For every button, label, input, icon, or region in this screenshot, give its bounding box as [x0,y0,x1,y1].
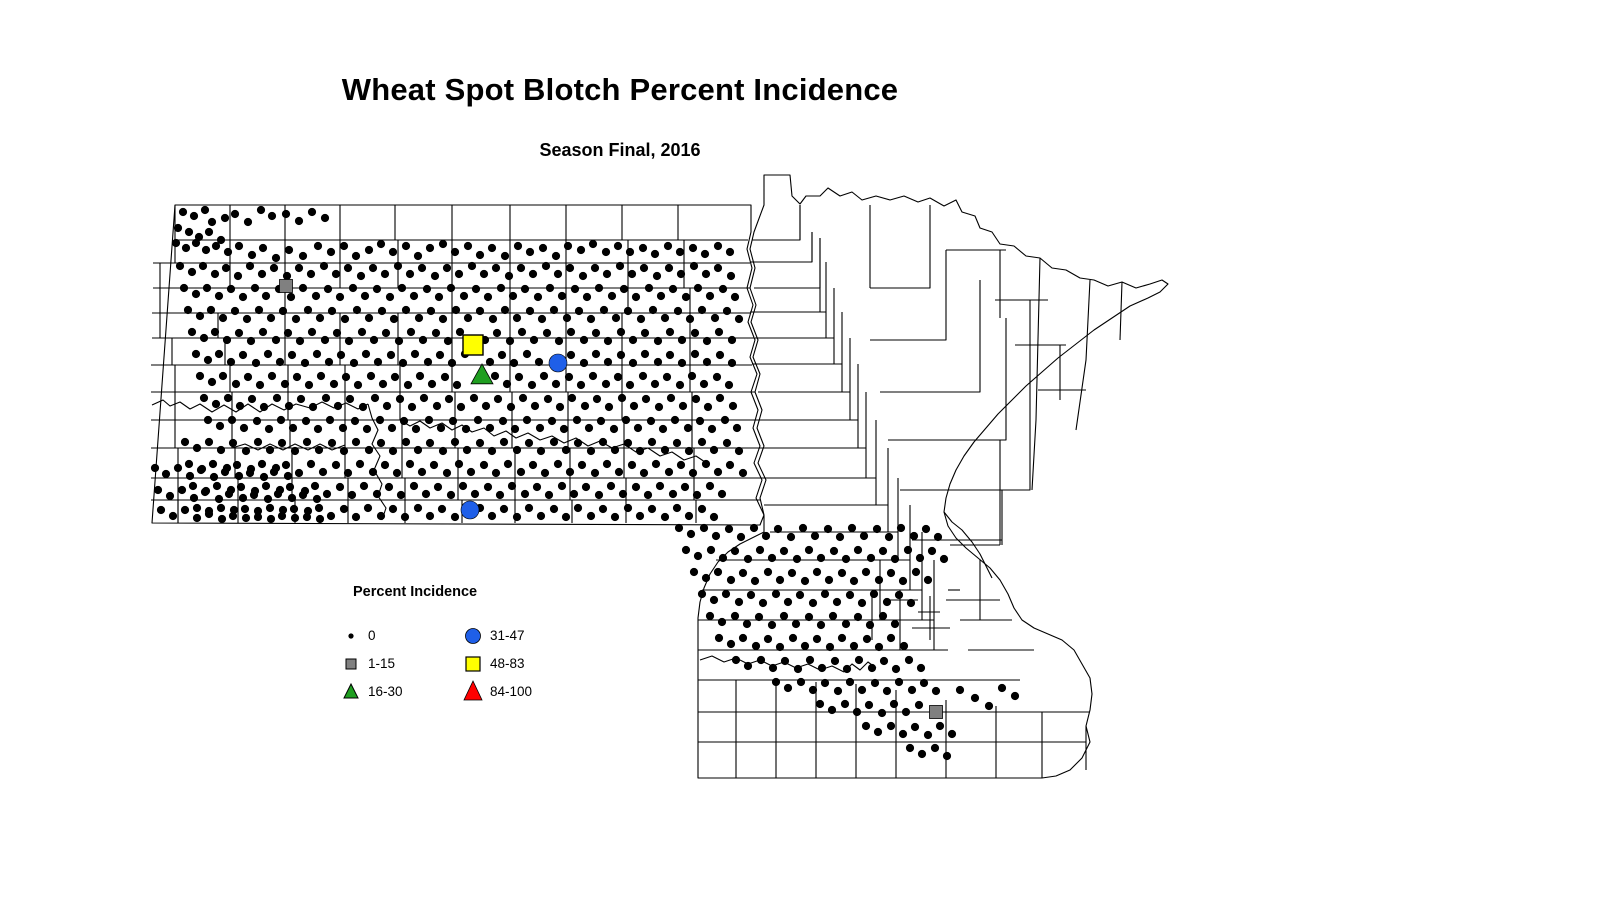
map-point-zero [727,272,735,280]
map-point-zero [365,246,373,254]
map-point-zero [181,506,189,514]
map-point-zero [757,656,765,664]
map-point-zero [719,554,727,562]
map-point-zero [676,248,684,256]
map-point-zero [455,460,463,468]
map-point-zero [887,722,895,730]
map-point-zero [855,656,863,664]
map-point-zero [199,262,207,270]
map-point-zero [437,424,445,432]
map-point-zero [276,486,284,494]
map-point-zero [402,306,410,314]
map-point-zero [723,307,731,315]
map-point-zero [443,264,451,272]
map-point-zero [363,425,371,433]
map-point-zero [703,337,711,345]
map-point-zero [583,293,591,301]
map-point-zero [854,546,862,554]
map-point-zero [911,723,919,731]
map-point-zero [600,306,608,314]
map-point-zero [682,546,690,554]
map-point-zero [154,486,162,494]
map-point-zero [276,358,284,366]
map-point-zero [873,525,881,533]
map-point-zero [185,228,193,236]
map-point-zero [404,381,412,389]
map-point-zero [614,242,622,250]
map-point-zero [240,424,248,432]
map-point-zero [432,329,440,337]
map-point-zero [340,447,348,455]
map-point-zero [883,687,891,695]
map-point-zero [850,577,858,585]
map-point-zero [905,656,913,664]
map-point-zero [236,402,244,410]
map-point-zero [414,252,422,260]
map-point-zero [472,285,480,293]
map-point-zero [345,337,353,345]
map-point-zero [285,246,293,254]
map-point-zero [213,482,221,490]
map-point-zero [248,251,256,259]
map-point-zero [656,482,664,490]
map-point-zero [581,402,589,410]
map-point-zero [496,491,504,499]
map-point-zero [836,533,844,541]
map-point-zero [883,598,891,606]
map-point-1-15[interactable] [930,706,943,719]
map-point-zero [540,372,548,380]
square-icon [462,650,488,678]
map-point-zero [258,460,266,468]
map-point-zero [412,425,420,433]
map-point-zero [282,210,290,218]
map-point-zero [589,240,597,248]
map-point-zero [619,490,627,498]
map-point-zero [435,293,443,301]
map-point-zero [727,640,735,648]
map-point-zero [648,438,656,446]
map-point-zero [595,284,603,292]
map-point-zero [192,239,200,247]
map-point-zero [304,507,312,515]
map-point-zero [410,482,418,490]
map-point-zero [686,315,694,323]
map-point-zero [860,532,868,540]
legend-label-1-15: 1-15 [368,650,395,678]
map-point-zero [690,568,698,576]
map-point-zero [169,512,177,520]
map-point-zero [644,491,652,499]
map-point-zero [554,270,562,278]
map-point-zero [862,722,870,730]
map-point-zero [374,358,382,366]
map-point-zero [780,547,788,555]
map-point-zero [708,425,716,433]
map-point-zero [675,524,683,532]
map-point-zero [897,524,905,532]
map-point-zero [246,262,254,270]
map-point-zero [726,461,734,469]
map-point-zero [488,447,496,455]
map-point-zero [188,268,196,276]
map-point-zero [550,505,558,513]
map-point-zero [801,642,809,650]
map-point-zero [190,494,198,502]
map-point-zero [971,694,979,702]
map-point-zero [216,422,224,430]
map-point-zero [846,678,854,686]
map-point-zero [698,590,706,598]
map-point-zero [235,242,243,250]
map-point-zero [422,490,430,498]
map-point-zero [486,358,494,366]
map-point-zero [295,217,303,225]
map-point-31-47[interactable] [549,354,567,372]
map-point-zero [235,472,243,480]
map-point-zero [915,701,923,709]
map-point-zero [333,329,341,337]
map-point-zero [218,515,226,523]
map-point-zero [439,240,447,248]
map-point-zero [291,514,299,522]
map-point-zero [258,270,266,278]
map-point-zero [799,524,807,532]
map-point-zero [219,372,227,380]
map-point-zero [480,461,488,469]
map-point-zero [772,590,780,598]
map-point-zero [324,285,332,293]
map-point-zero [750,524,758,532]
map-point-zero [661,314,669,322]
map-point-zero [674,307,682,315]
triangle-icon [462,678,488,706]
map-point-zero [448,359,456,367]
map-point-zero [715,634,723,642]
map-point-zero [151,464,159,472]
map-point-zero [550,438,558,446]
map-point-zero [690,262,698,270]
map-point-48-83[interactable] [463,335,483,355]
map-point-zero [558,292,566,300]
map-point-zero [488,244,496,252]
map-point-zero [397,491,405,499]
map-point-zero [451,248,459,256]
map-point-zero [716,394,724,402]
map-point-zero [272,336,280,344]
map-point-zero [268,372,276,380]
map-point-zero [390,315,398,323]
map-point-zero [618,394,626,402]
map-point-zero [503,380,511,388]
map-point-31-47[interactable] [461,501,479,519]
map-point-zero [698,306,706,314]
map-point-zero [519,394,527,402]
map-point-zero [918,750,926,758]
map-point-zero [870,590,878,598]
map-point-zero [811,532,819,540]
map-point-zero [733,424,741,432]
map-point-zero [593,395,601,403]
map-point-zero [630,402,638,410]
map-point-zero [357,272,365,280]
map-point-zero [639,372,647,380]
map-point-zero [313,350,321,358]
map-point-zero [587,512,595,520]
map-point-zero [781,657,789,665]
map-point-zero [692,395,700,403]
map-point-zero [677,270,685,278]
map-point-1-15[interactable] [280,280,293,293]
map-point-zero [550,306,558,314]
map-point-zero [677,461,685,469]
map-point-zero [711,314,719,322]
map-point-zero [729,402,737,410]
map-point-zero [470,394,478,402]
map-point-zero [193,504,201,512]
map-point-zero [482,402,490,410]
map-point-zero [565,373,573,381]
map-point-zero [665,468,673,476]
map-point-zero [190,212,198,220]
map-point-zero [691,350,699,358]
dot-icon [340,622,366,650]
map-point-zero [543,329,551,337]
map-point-zero [854,613,862,621]
map-point-zero [181,438,189,446]
map-point-zero [755,613,763,621]
map-point-zero [209,460,217,468]
map-point-zero [891,620,899,628]
map-point-zero [510,359,518,367]
map-point-zero [725,525,733,533]
map-point-zero [612,314,620,322]
map-point-zero [666,351,674,359]
map-point-zero [578,461,586,469]
map-point-zero [696,417,704,425]
map-point-zero [247,337,255,345]
map-point-zero [228,416,236,424]
map-point-zero [217,446,225,454]
map-point-zero [537,447,545,455]
map-point-zero [474,416,482,424]
map-point-zero [508,482,516,490]
map-point-zero [449,417,457,425]
map-point-zero [499,417,507,425]
map-point-zero [727,576,735,584]
map-point-zero [223,336,231,344]
map-point-zero [689,244,697,252]
map-point-zero [418,264,426,272]
map-point-zero [439,447,447,455]
map-point-zero [424,358,432,366]
map-point-zero [445,395,453,403]
map-canvas[interactable] [0,0,1612,900]
map-point-zero [768,554,776,562]
map-point-zero [224,394,232,402]
map-point-zero [200,334,208,342]
map-point-zero [787,533,795,541]
map-point-zero [467,468,475,476]
map-point-zero [180,284,188,292]
map-point-zero [176,262,184,270]
map-point-zero [453,381,461,389]
map-point-zero [702,270,710,278]
map-point-zero [492,264,500,272]
map-point-zero [299,252,307,260]
map-point-zero [739,569,747,577]
map-point-zero [809,599,817,607]
legend: Percent Incidence 0 1-15 16-30 [340,578,600,708]
map-point-zero [501,306,509,314]
map-point-zero [262,292,270,300]
legend-label-84-100: 84-100 [490,678,532,706]
map-point-zero [262,482,270,490]
map-point-zero [574,439,582,447]
map-point-zero [712,532,720,540]
map-point-zero [776,576,784,584]
map-point-zero [669,490,677,498]
map-point-zero [377,439,385,447]
map-point-zero [676,381,684,389]
map-point-zero [411,350,419,358]
map-point-zero [391,373,399,381]
map-point-zero [784,684,792,692]
map-point-zero [710,596,718,604]
mn-state-outline [698,175,1168,778]
map-point-zero [157,506,165,514]
map-point-zero [685,512,693,520]
map-point-zero [291,447,299,455]
map-point-zero [205,228,213,236]
map-point-zero [833,598,841,606]
map-point-zero [604,358,612,366]
circle-icon [462,622,488,650]
map-point-zero [639,244,647,252]
map-point-zero [879,612,887,620]
map-point-zero [526,307,534,315]
map-point-zero [579,272,587,280]
map-point-zero [514,242,522,250]
map-point-zero [254,438,262,446]
map-point-zero [242,447,250,455]
map-point-zero [571,285,579,293]
map-point-zero [205,438,213,446]
map-point-zero [838,569,846,577]
map-point-zero [956,686,964,694]
map-point-zero [212,242,220,250]
map-point-zero [580,336,588,344]
map-point-zero [344,469,352,477]
map-point-zero [438,505,446,513]
map-point-zero [718,618,726,626]
map-point-zero [202,246,210,254]
map-point-zero [255,306,263,314]
map-point-zero [349,284,357,292]
map-point-zero [352,438,360,446]
map-point-zero [501,252,509,260]
map-point-zero [301,487,309,495]
map-point-zero [552,380,560,388]
map-point-zero [866,621,874,629]
map-point-zero [556,403,564,411]
map-point-zero [208,378,216,386]
map-point-zero [640,264,648,272]
map-point-zero [389,447,397,455]
map-point-zero [529,270,537,278]
map-point-zero [801,577,809,585]
map-point-zero [205,507,213,515]
map-point-zero [664,242,672,250]
map-point-zero [342,373,350,381]
map-point-zero [382,329,390,337]
map-point-zero [284,329,292,337]
map-point-zero [394,262,402,270]
map-point-zero [468,262,476,270]
map-point-zero [320,262,328,270]
map-point-zero [311,482,319,490]
map-point-zero [821,679,829,687]
map-point-zero [661,446,669,454]
map-point-zero [513,314,521,322]
map-point-zero [373,490,381,498]
map-point-zero [523,416,531,424]
map-point-zero [842,620,850,628]
map-point-zero [607,482,615,490]
map-point-zero [718,490,726,498]
map-point-zero [439,315,447,323]
map-point-zero [591,264,599,272]
map-point-zero [747,591,755,599]
map-point-zero [826,643,834,651]
map-point-zero [272,464,280,472]
map-point-zero [179,208,187,216]
state-county-map[interactable] [0,0,1612,900]
map-point-zero [603,270,611,278]
map-point-zero [314,242,322,250]
map-point-zero [878,709,886,717]
map-point-zero [663,373,671,381]
map-point-zero [302,417,310,425]
map-point-zero [344,264,352,272]
map-point-zero [641,329,649,337]
map-point-zero [735,315,743,323]
map-point-zero [340,242,348,250]
map-point-zero [351,417,359,425]
map-point-zero [885,533,893,541]
map-point-zero [427,307,435,315]
map-point-zero [622,416,630,424]
map-point-zero [743,620,751,628]
map-point-zero [772,678,780,686]
map-point-zero [418,468,426,476]
map-point-zero [768,621,776,629]
map-point-zero [602,380,610,388]
map-point-zero [410,292,418,300]
map-point-zero [710,513,718,521]
map-point-zero [546,284,554,292]
map-point-zero [231,307,239,315]
map-point-zero [862,568,870,576]
map-point-zero [504,460,512,468]
map-point-zero [350,359,358,367]
map-point-zero [818,664,826,672]
map-point-zero [299,284,307,292]
map-point-zero [703,358,711,366]
map-point-zero [611,513,619,521]
map-point-zero [268,212,276,220]
map-point-zero [497,284,505,292]
